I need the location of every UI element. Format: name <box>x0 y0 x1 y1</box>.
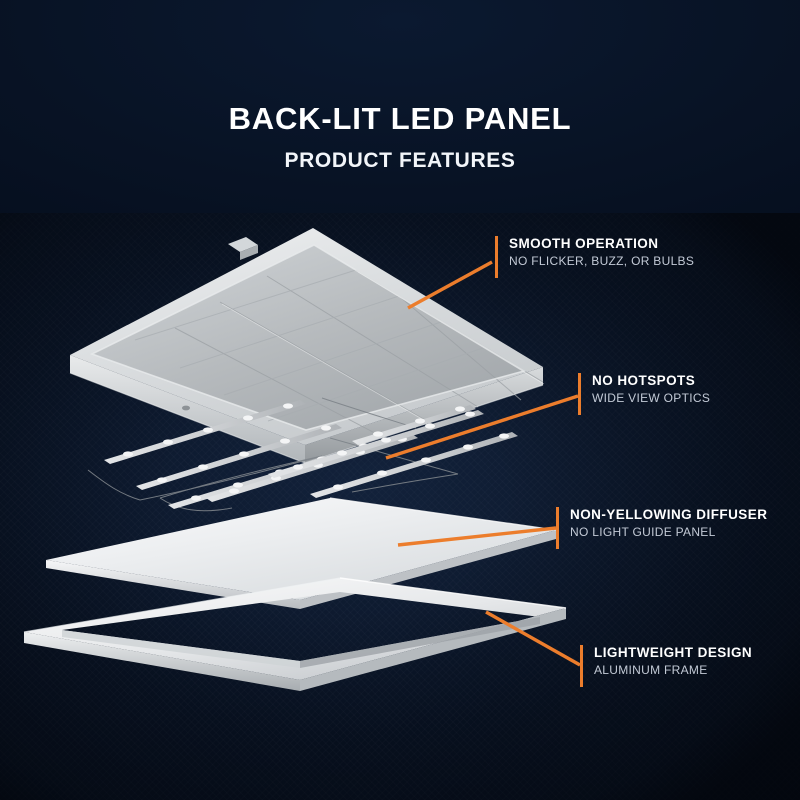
callout-tick-icon <box>556 507 559 549</box>
aluminum-frame <box>24 578 566 691</box>
led-housing-back <box>70 228 544 463</box>
callout-tick-icon <box>495 236 498 278</box>
callout-subheading: NO LIGHT GUIDE PANEL <box>570 523 767 540</box>
housing-mount-hole <box>182 406 190 411</box>
callout-heading: SMOOTH OPERATION <box>509 236 694 252</box>
callout-subheading: NO FLICKER, BUZZ, OR BULBS <box>509 252 694 269</box>
callout-tick-icon <box>580 645 583 687</box>
leader-line-smooth-operation <box>408 262 492 308</box>
callout-subheading: WIDE VIEW OPTICS <box>592 389 710 406</box>
callout-subheading: ALUMINUM FRAME <box>594 661 752 678</box>
frame-inner-lip-right <box>300 617 540 668</box>
callout-heading: NO HOTSPOTS <box>592 373 710 389</box>
callout-tick-icon <box>578 373 581 415</box>
callout-heading: NON-YELLOWING DIFFUSER <box>570 507 767 523</box>
callout-heading: LIGHTWEIGHT DESIGN <box>594 645 752 661</box>
header: BACK-LIT LED PANEL PRODUCT FEATURES <box>0 0 800 171</box>
infographic-canvas: BACK-LIT LED PANEL PRODUCT FEATURES <box>0 0 800 800</box>
page-title: BACK-LIT LED PANEL <box>0 0 800 134</box>
page-subtitle: PRODUCT FEATURES <box>0 134 800 171</box>
